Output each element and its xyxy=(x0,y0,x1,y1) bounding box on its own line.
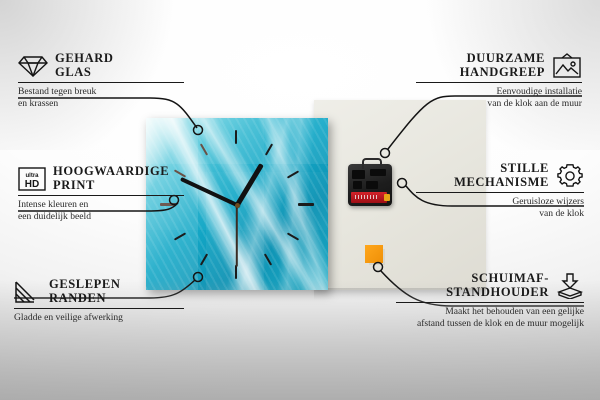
callout-desc-line2: en krassen xyxy=(18,98,184,110)
callout-desc-line1: Intense kleuren en xyxy=(18,199,184,211)
clock-tick-3 xyxy=(298,203,314,206)
callout-title-line2: PRINT xyxy=(53,179,169,193)
callout-title-line2: HANDGREEP xyxy=(460,66,545,80)
callout-rule xyxy=(416,192,584,193)
picture-frame-hanger-icon xyxy=(552,53,582,79)
callout-desc-line1: Eenvoudige installatie xyxy=(416,86,582,98)
callout-desc-line1: Gladde en veilige afwerking xyxy=(14,312,184,324)
callout-stille-mechanisme: STILLE MECHANISME Geruisloze wijzers van… xyxy=(416,162,584,220)
callout-rule xyxy=(14,308,184,309)
clock-second-hand xyxy=(236,205,238,267)
callout-desc-line1: Bestand tegen breuk xyxy=(18,86,184,98)
callout-header: DUURZAME HANDGREEP xyxy=(416,52,582,79)
callout-description: Gladde en veilige afwerking xyxy=(14,312,184,324)
svg-text:HD: HD xyxy=(25,179,39,190)
callout-rule xyxy=(396,302,584,303)
callout-title-line1: SCHUIMAF- xyxy=(446,272,549,286)
callout-desc-line2: van de klok aan de muur xyxy=(416,98,582,110)
callout-desc-line2: een duidelijk beeld xyxy=(18,211,184,223)
callout-desc-line1: Geruisloze wijzers xyxy=(416,196,584,208)
callout-title-line1: DUURZAME xyxy=(460,52,545,66)
callout-gehard-glas: GEHARD GLAS Bestand tegen breuk en krass… xyxy=(18,52,184,110)
callout-title-line2: STANDHOUDER xyxy=(446,286,549,300)
callout-desc-line2: afstand tussen de klok en de muur mogeli… xyxy=(396,318,584,330)
mechanism-slot-a xyxy=(352,170,365,179)
clock-tick-6 xyxy=(235,265,237,279)
callout-header: SCHUIMAF- STANDHOUDER xyxy=(396,272,584,299)
mechanism-slot-b xyxy=(370,169,386,176)
infographic-canvas: GEHARD GLAS Bestand tegen breuk en krass… xyxy=(0,0,600,400)
callout-title-line1: GESLEPEN xyxy=(49,278,121,292)
callout-description: Eenvoudige installatie van de klok aan d… xyxy=(416,86,582,109)
callout-description: Bestand tegen breuk en krassen xyxy=(18,86,184,109)
mechanism-slot-c xyxy=(353,181,362,189)
callout-geslepen-randen: GESLEPEN RANDEN Gladde en veilige afwerk… xyxy=(14,278,184,324)
callout-header: GEHARD GLAS xyxy=(18,52,184,79)
foam-spacer xyxy=(365,245,383,263)
callout-schuimafstandhouder: SCHUIMAF- STANDHOUDER Maakt het behouden… xyxy=(396,272,584,330)
mechanism-hanger xyxy=(362,158,382,169)
callout-title-line2: MECHANISME xyxy=(454,176,549,190)
callout-desc-line2: van de klok xyxy=(416,208,584,220)
callout-description: Intense kleuren en een duidelijk beeld xyxy=(18,199,184,222)
callout-duurzame-handgreep: DUURZAME HANDGREEP Eenvoudige installati… xyxy=(416,52,582,110)
callout-rule xyxy=(18,82,184,83)
callout-rule xyxy=(416,82,582,83)
clock-center-pin xyxy=(235,203,240,208)
callout-description: Maakt het behouden van een gelijke afsta… xyxy=(396,306,584,329)
ultra-hd-icon: ultra HD xyxy=(18,166,46,192)
callout-description: Geruisloze wijzers van de klok xyxy=(416,196,584,219)
mechanism-battery xyxy=(351,192,387,203)
callout-title-line1: STILLE xyxy=(454,162,549,176)
callout-title-line1: HOOGWAARDIGE xyxy=(53,165,169,179)
callout-header: STILLE MECHANISME xyxy=(416,162,584,189)
beveled-edges-icon xyxy=(14,279,42,305)
callout-desc-line1: Maakt het behouden van een gelijke xyxy=(396,306,584,318)
spacer-stack-arrow-icon xyxy=(556,273,584,299)
clock-mechanism xyxy=(348,164,392,206)
battery-label xyxy=(355,195,377,199)
mechanism-slot-d xyxy=(366,181,378,189)
callout-hoogwaardige-print: ultra HD HOOGWAARDIGE PRINT Intense kleu… xyxy=(18,165,184,223)
callout-title-line2: GLAS xyxy=(55,66,113,80)
battery-positive-terminal xyxy=(384,194,390,201)
callout-header: GESLEPEN RANDEN xyxy=(14,278,184,305)
gear-icon xyxy=(556,163,584,189)
callout-rule xyxy=(18,195,184,196)
clock-tick-12 xyxy=(235,130,237,144)
callout-header: ultra HD HOOGWAARDIGE PRINT xyxy=(18,165,184,192)
callout-title-line2: RANDEN xyxy=(49,292,121,306)
diamond-icon xyxy=(18,53,48,79)
callout-title-line1: GEHARD xyxy=(55,52,113,66)
